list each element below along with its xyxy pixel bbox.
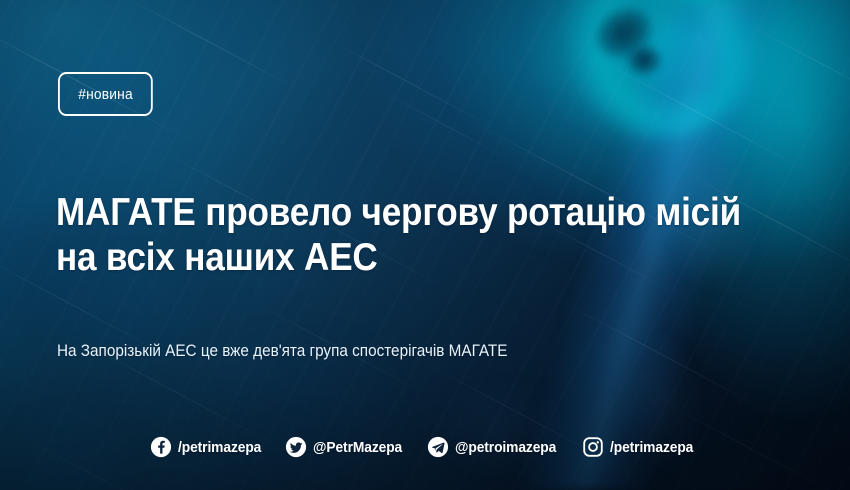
twitter-handle: @PetrMazepa: [313, 439, 402, 456]
subtitle: На Запорізькій АЕС це вже дев'ята група …: [57, 340, 507, 362]
headline-line-1: МАГАТЕ провело чергову ротацію місій: [56, 190, 686, 235]
hashtag-badge[interactable]: #новина: [58, 72, 153, 116]
telegram-handle: @petroimazepa: [455, 439, 556, 456]
social-links-row: /petrimazepa @PetrMazepa @petroimazepa: [0, 436, 850, 458]
twitter-icon: [285, 436, 307, 458]
social-link-twitter[interactable]: @PetrMazepa: [285, 436, 410, 458]
news-card: #новина МАГАТЕ провело чергову ротацію м…: [0, 0, 850, 490]
facebook-handle: /petrimazepa: [178, 439, 261, 456]
social-link-instagram[interactable]: /petrimazepa: [582, 436, 701, 458]
social-link-facebook[interactable]: /petrimazepa: [150, 436, 269, 458]
telegram-icon: [427, 436, 449, 458]
headline-line-2: на всіх наших АЕС: [56, 235, 686, 280]
facebook-icon: [150, 436, 172, 458]
page-title: МАГАТЕ провело чергову ротацію місій на …: [56, 190, 686, 280]
card-content: #новина МАГАТЕ провело чергову ротацію м…: [0, 0, 850, 490]
social-link-telegram[interactable]: @petroimazepa: [427, 436, 565, 458]
instagram-icon: [582, 436, 604, 458]
instagram-handle: /petrimazepa: [610, 439, 693, 456]
